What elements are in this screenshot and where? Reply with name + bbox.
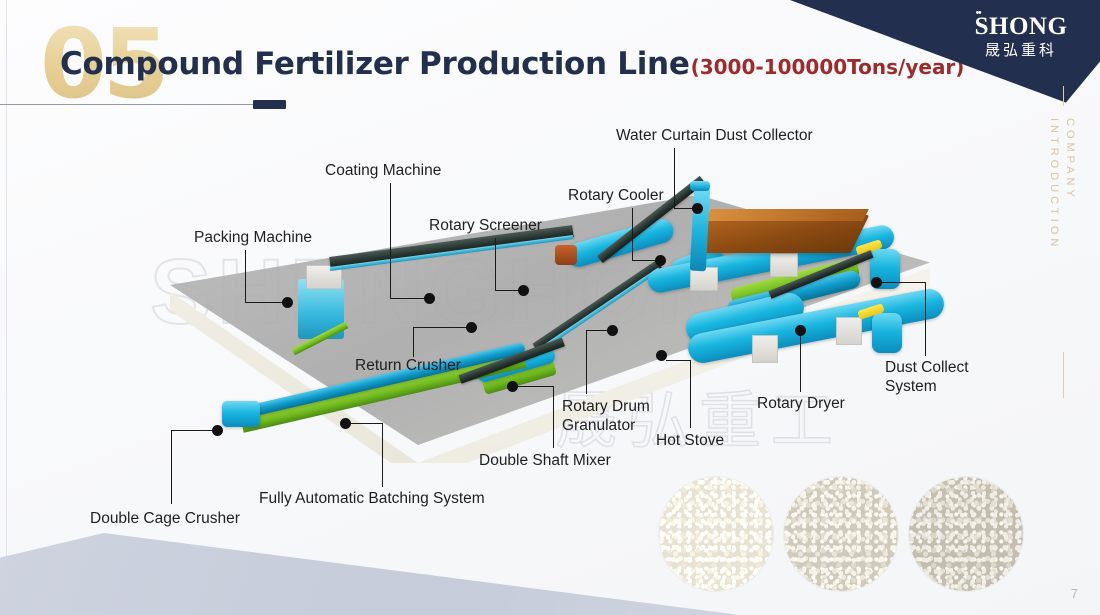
label-rotary-dryer: Rotary Dryer — [757, 394, 845, 413]
label-rotary-screener: Rotary Screener — [429, 216, 542, 235]
marker-hot-stove — [656, 350, 667, 361]
logo-wordmark-text: SHONG — [975, 13, 1068, 40]
marker-rotary-cooler — [655, 255, 666, 266]
leader-double-cage-crusher-h — [171, 430, 217, 431]
label-double-cage-crusher: Double Cage Crusher — [90, 509, 240, 528]
leader-batching-system — [382, 423, 383, 487]
marker-water-curtain-dust-collector — [692, 203, 703, 214]
slide-canvas: 05 Compound Fertilizer Production Line (… — [0, 0, 1100, 615]
leader-double-shaft-mixer-h — [512, 386, 554, 387]
machine-water-curtain-stack-cap — [690, 181, 710, 191]
leader-coating-machine-h — [390, 298, 428, 299]
leader-rotary-screener — [495, 238, 496, 290]
marker-rotary-screener — [518, 285, 529, 296]
side-rail-line-1: COMPANY — [1062, 118, 1078, 250]
side-rail-label: COMPANY INTRODUCTION — [1046, 118, 1078, 250]
marker-return-crusher — [466, 322, 477, 333]
label-coating-machine: Coating Machine — [325, 161, 441, 180]
page-number: 7 — [1071, 586, 1078, 601]
machine-rotary-cooler-support-2 — [770, 253, 798, 277]
title-capacity-text: (3000-100000Tons/year) — [691, 55, 965, 79]
leader-packing-machine-h — [245, 302, 287, 303]
label-hot-stove: Hot Stove — [656, 431, 724, 450]
label-dust-collect-system: Dust Collect System — [885, 358, 981, 396]
title-main-text: Compound Fertilizer Production Line — [60, 46, 690, 82]
leader-hot-stove — [690, 360, 691, 428]
label-return-crusher: Return Crusher — [355, 356, 461, 375]
leader-coating-machine — [390, 183, 391, 298]
leader-hot-stove-h — [666, 360, 691, 361]
leader-return-crusher — [413, 327, 414, 357]
leader-rotary-drum-granulator — [586, 330, 587, 394]
marker-double-shaft-mixer — [507, 381, 518, 392]
machine-double-cage-crusher — [222, 401, 260, 427]
marker-coating-machine — [424, 293, 435, 304]
product-granule-3 — [909, 477, 1023, 591]
product-granule-1 — [659, 477, 773, 591]
machine-hot-stove-top — [705, 209, 869, 221]
marker-dust-collect-system — [871, 277, 882, 288]
label-rotary-cooler: Rotary Cooler — [568, 186, 664, 205]
leader-dust-collect-system — [925, 282, 926, 356]
product-granule-2-texture — [784, 477, 898, 591]
side-rail-line-2: INTRODUCTION — [1046, 118, 1062, 250]
label-water-curtain-dust-collector: Water Curtain Dust Collector — [616, 126, 813, 145]
logo-dots-icon: •• — [976, 9, 981, 19]
left-edge-rule — [6, 0, 7, 615]
label-rotary-drum-granulator: Rotary Drum Granulator — [562, 397, 662, 435]
marker-rotary-dryer — [795, 325, 806, 336]
logo-chinese-text: 晟弘重科 — [960, 43, 1082, 58]
leader-packing-machine — [245, 250, 246, 302]
leader-double-shaft-mixer — [553, 386, 554, 448]
label-packing-machine: Packing Machine — [194, 228, 312, 247]
leader-rotary-dryer — [800, 330, 801, 392]
leader-double-cage-crusher — [171, 430, 172, 504]
machine-dust-collect-system-2 — [872, 313, 902, 353]
header-dash-accent — [253, 100, 286, 109]
marker-double-cage-crusher — [212, 425, 223, 436]
product-granule-3-texture — [909, 477, 1023, 591]
brand-logo: •• SHONG 晟弘重科 — [960, 14, 1082, 58]
leader-dust-collect-system-h — [880, 282, 926, 283]
label-fully-automatic-batching-system: Fully Automatic Batching System — [259, 489, 485, 508]
rail-tick-bottom — [1063, 352, 1064, 398]
leader-return-crusher-h — [413, 327, 471, 328]
label-double-shaft-mixer: Double Shaft Mixer — [479, 451, 611, 470]
leader-rotary-cooler — [632, 208, 633, 260]
bottom-decorative-wedge — [0, 533, 740, 615]
marker-rotary-drum-granulator — [607, 325, 618, 336]
machine-rotary-dryer-support-1 — [752, 335, 778, 363]
leader-water-curtain — [674, 148, 675, 208]
machine-coating-inlet — [555, 245, 577, 265]
page-title: Compound Fertilizer Production Line (300… — [60, 46, 964, 82]
logo-wordmark: •• SHONG — [975, 14, 1068, 39]
machine-rotary-dryer-support-2 — [836, 317, 862, 345]
marker-fully-automatic-batching-system — [340, 418, 351, 429]
marker-packing-machine — [282, 297, 293, 308]
product-granule-2 — [784, 477, 898, 591]
leader-batching-system-h — [349, 423, 383, 424]
rail-tick-top — [1063, 86, 1064, 106]
product-granule-1-texture — [659, 477, 773, 591]
